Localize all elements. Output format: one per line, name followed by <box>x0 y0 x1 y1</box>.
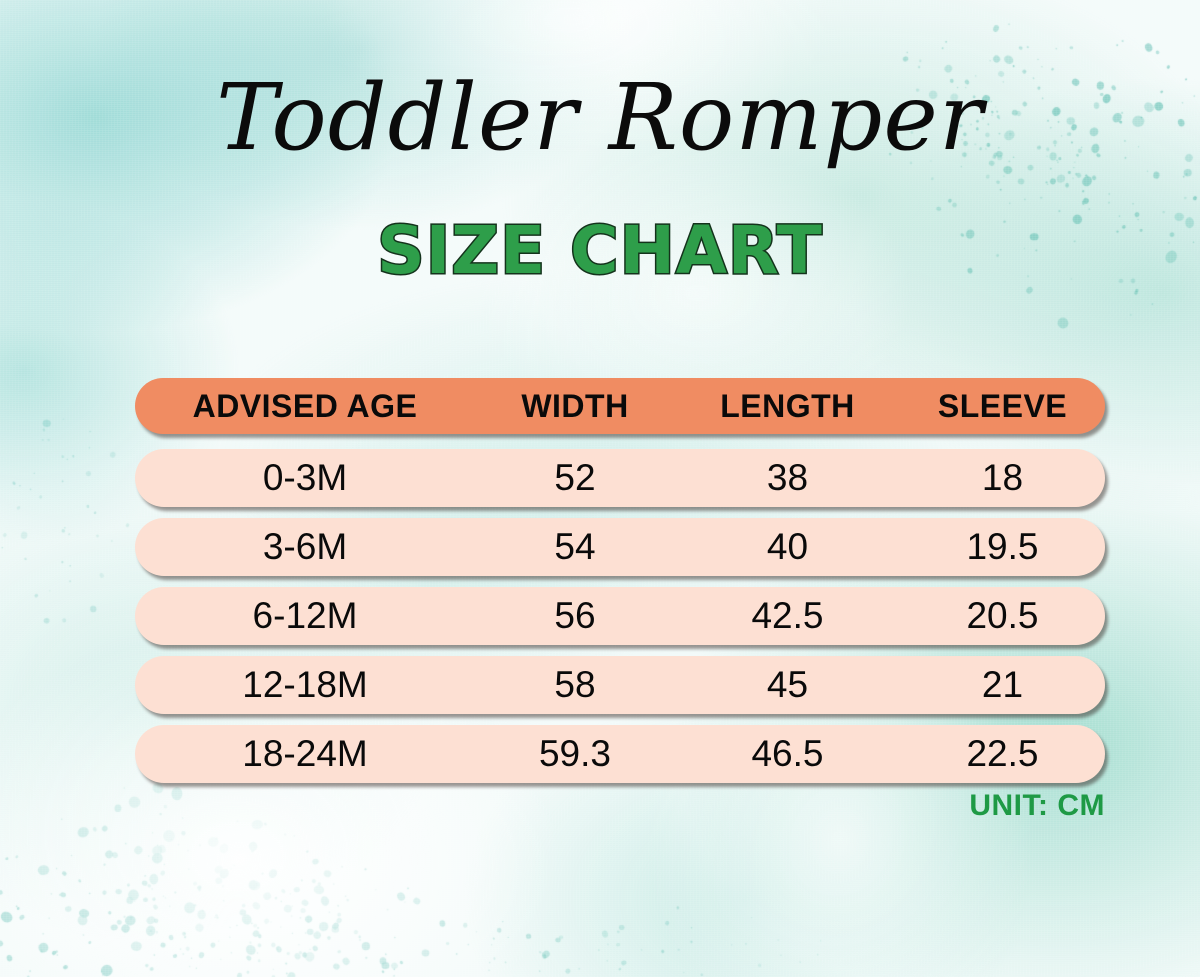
cell-advised-age: 3-6M <box>135 526 475 568</box>
cell-width: 56 <box>475 595 675 637</box>
cell-length: 45 <box>675 664 900 706</box>
column-header-length: LENGTH <box>675 388 900 425</box>
size-chart-page: Toddler Romper SIZE CHART ADVISED AGE WI… <box>0 0 1200 977</box>
cell-sleeve: 21 <box>900 664 1105 706</box>
table-row: 0-3M 52 38 18 <box>135 449 1105 507</box>
cell-advised-age: 18-24M <box>135 733 475 775</box>
column-header-width: WIDTH <box>475 388 675 425</box>
cell-sleeve: 20.5 <box>900 595 1105 637</box>
title-block: Toddler Romper <box>0 72 1200 164</box>
cell-length: 42.5 <box>675 595 900 637</box>
table-row: 12-18M 58 45 21 <box>135 656 1105 714</box>
table-row: 18-24M 59.3 46.5 22.5 <box>135 725 1105 783</box>
cell-advised-age: 12-18M <box>135 664 475 706</box>
table-row: 3-6M 54 40 19.5 <box>135 518 1105 576</box>
cell-sleeve: 22.5 <box>900 733 1105 775</box>
cell-advised-age: 6-12M <box>135 595 475 637</box>
cell-width: 59.3 <box>475 733 675 775</box>
table-header-row: ADVISED AGE WIDTH LENGTH SLEEVE <box>135 378 1105 434</box>
unit-note: UNIT: CM <box>969 789 1105 823</box>
cell-width: 54 <box>475 526 675 568</box>
page-title: Toddler Romper <box>0 72 1200 164</box>
column-header-advised-age: ADVISED AGE <box>135 388 475 425</box>
column-header-sleeve: SLEEVE <box>900 388 1105 425</box>
table-row: 6-12M 56 42.5 20.5 <box>135 587 1105 645</box>
size-chart-table: ADVISED AGE WIDTH LENGTH SLEEVE 0-3M 52 … <box>135 378 1105 783</box>
cell-sleeve: 19.5 <box>900 526 1105 568</box>
page-subtitle: SIZE CHART <box>377 218 823 284</box>
cell-length: 40 <box>675 526 900 568</box>
cell-advised-age: 0-3M <box>135 457 475 499</box>
subtitle-block: SIZE CHART <box>0 218 1200 284</box>
cell-width: 58 <box>475 664 675 706</box>
cell-length: 38 <box>675 457 900 499</box>
cell-sleeve: 18 <box>900 457 1105 499</box>
cell-length: 46.5 <box>675 733 900 775</box>
cell-width: 52 <box>475 457 675 499</box>
